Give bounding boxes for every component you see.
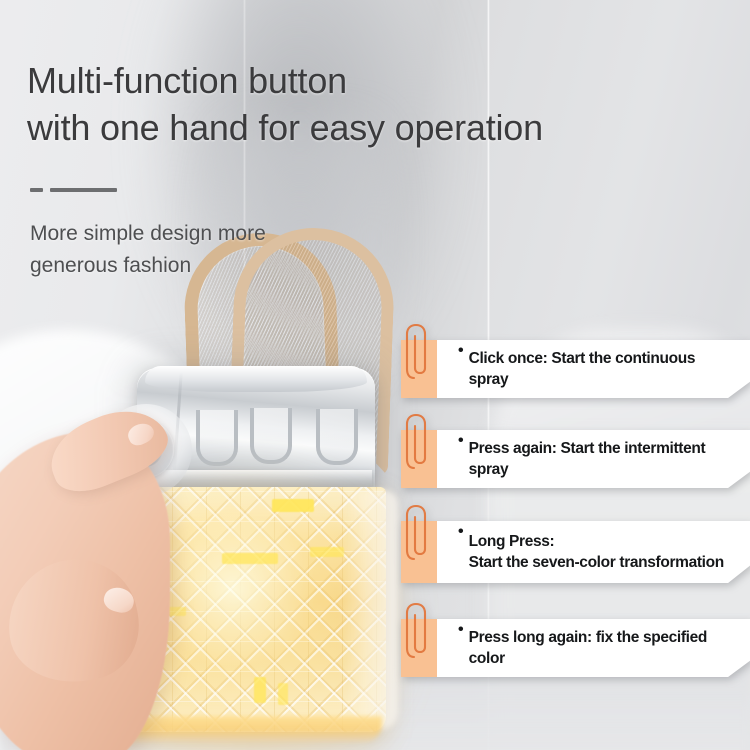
- callout-bullet: •: [458, 430, 464, 451]
- callout-panel: • Press again: Start the intermittent sp…: [437, 430, 750, 488]
- crystal-highlight: [254, 677, 266, 703]
- feature-callout-press-long-again[interactable]: • Press long again: fix the specified co…: [401, 619, 750, 677]
- callout-bullet: •: [458, 619, 464, 640]
- strap-anchor-loop: [250, 408, 292, 464]
- callout-accent-tab: [401, 430, 437, 488]
- crystal-highlight: [310, 547, 344, 557]
- product-feature-image: Multi-function button with one hand for …: [0, 0, 750, 750]
- callout-text: Click once: Start the continuous spray: [469, 348, 732, 390]
- callout-panel: • Long Press: Start the seven-color tran…: [437, 521, 750, 583]
- crystal-highlight: [278, 683, 288, 705]
- callout-accent-tab: [401, 619, 437, 677]
- callout-text: Press long again: fix the specified colo…: [469, 627, 732, 669]
- page-title: Multi-function button with one hand for …: [27, 57, 687, 151]
- callout-text: Press again: Start the intermittent spra…: [469, 438, 732, 480]
- feature-callout-long-press[interactable]: • Long Press: Start the seven-color tran…: [401, 521, 750, 583]
- strap-anchor-loop: [196, 410, 238, 466]
- crystal-body-base: [110, 716, 382, 742]
- callout-panel: • Press long again: fix the specified co…: [437, 619, 750, 677]
- feature-callout-click-once[interactable]: • Click once: Start the continuous spray: [401, 340, 750, 398]
- divider-dash-short: [30, 188, 43, 192]
- crystal-highlight: [272, 499, 314, 512]
- callout-bullet: •: [458, 340, 464, 361]
- divider-dash-long: [50, 188, 117, 192]
- callout-accent-tab: [401, 521, 437, 583]
- callout-bullet: •: [458, 521, 464, 542]
- callout-text: Long Press: Start the seven-color transf…: [469, 531, 724, 573]
- title-divider: [30, 188, 117, 192]
- callout-panel: • Click once: Start the continuous spray: [437, 340, 750, 398]
- crystal-highlight: [222, 553, 278, 564]
- callout-accent-tab: [401, 340, 437, 398]
- strap-anchor-loop: [316, 409, 358, 465]
- page-subtitle: More simple design more generous fashion: [30, 218, 360, 282]
- crystal-body-right-edge: [340, 490, 398, 730]
- feature-callout-press-again[interactable]: • Press again: Start the intermittent sp…: [401, 430, 750, 488]
